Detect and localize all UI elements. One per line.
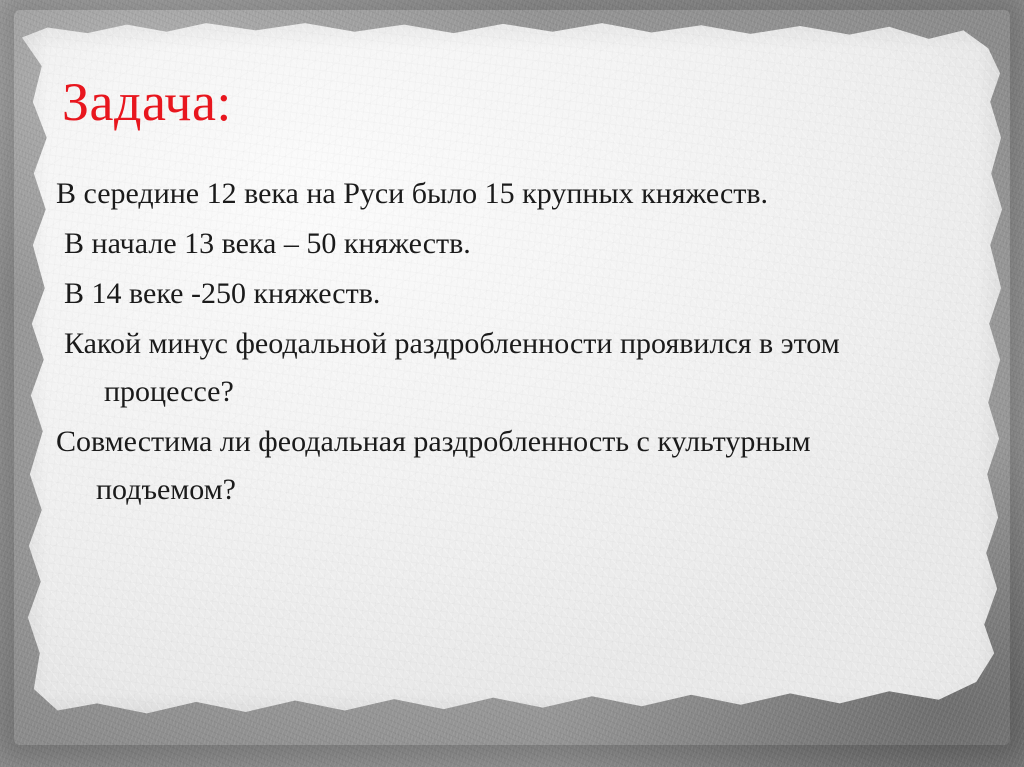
body-line-1: В середине 12 века на Руси было 15 крупн…	[56, 170, 896, 218]
slide-body-list: В середине 12 века на Руси было 15 крупн…	[56, 170, 936, 516]
slide-canvas: Задача: В середине 12 века на Руси было …	[0, 0, 1024, 767]
body-line-3: В 14 веке -250 княжеств.	[56, 270, 904, 318]
body-line-4: Какой минус феодальной раздробленности п…	[56, 320, 904, 416]
slide-content: Задача: В середине 12 века на Руси было …	[0, 0, 1024, 767]
body-line-2: В начале 13 века – 50 княжеств.	[56, 220, 904, 268]
body-line-5: Совместима ли феодальная раздробленность…	[56, 418, 936, 514]
slide-title: Задача:	[62, 74, 232, 131]
